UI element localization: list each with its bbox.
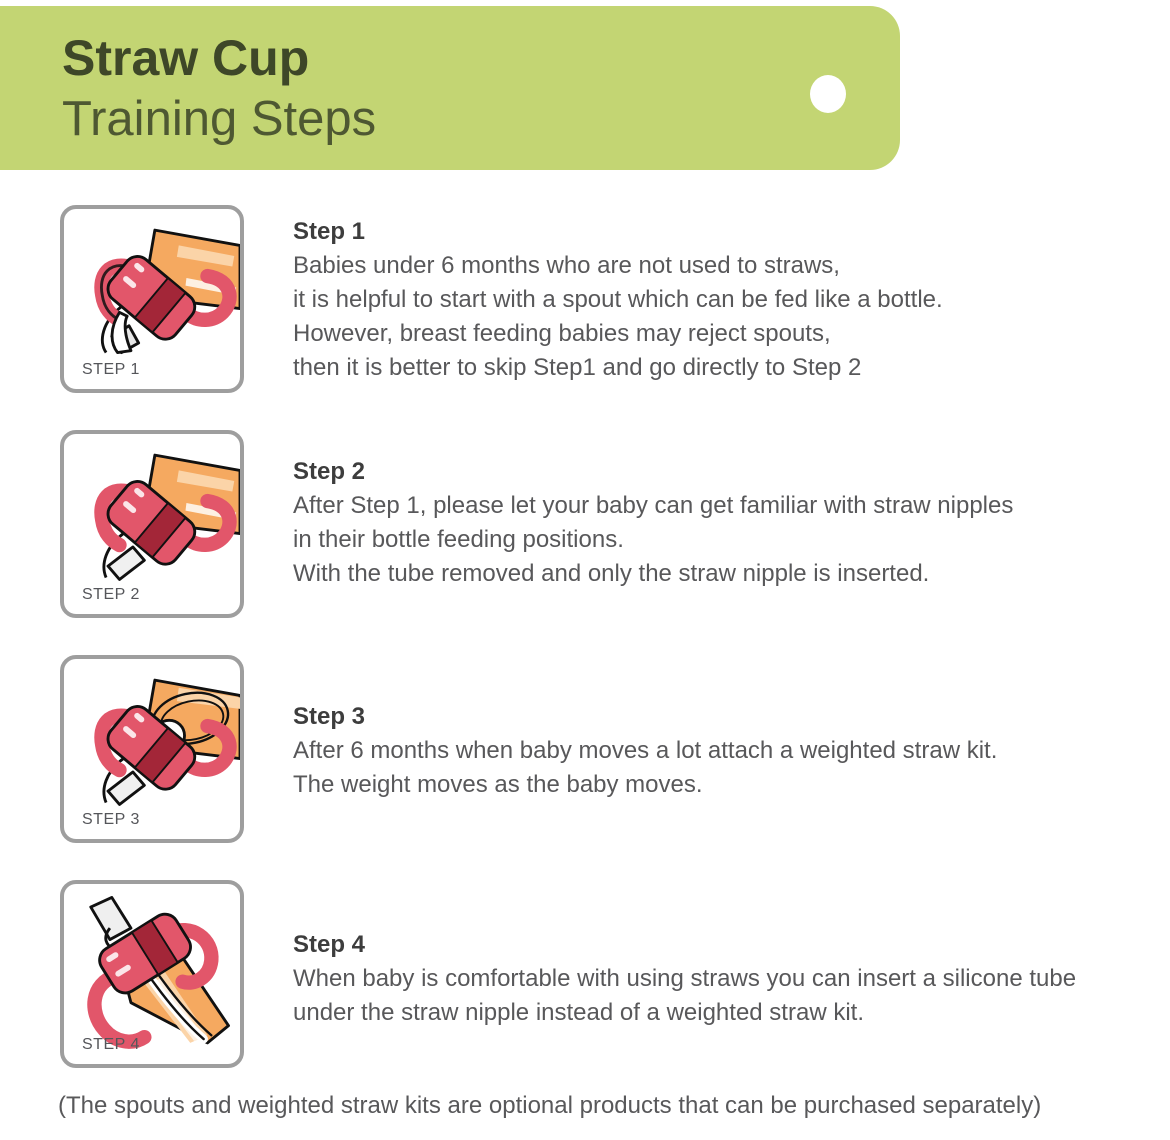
- list-item: STEP 3 Step 3 After 6 months when baby m…: [0, 655, 1170, 880]
- step-body-line: under the straw nipple instead of a weig…: [293, 996, 1163, 1030]
- header-banner: Straw Cup Training Steps: [0, 6, 900, 170]
- step-heading: Step 3: [293, 700, 1163, 734]
- steps-list: STEP 1 Step 1 Babies under 6 months who …: [0, 205, 1170, 1105]
- list-item: STEP 1 Step 1 Babies under 6 months who …: [0, 205, 1170, 430]
- step-box-label: STEP 4: [82, 1036, 140, 1054]
- step-body-line: The weight moves as the baby moves.: [293, 768, 1163, 802]
- step-body-line: After Step 1, please let your baby can g…: [293, 489, 1163, 523]
- step-heading: Step 1: [293, 215, 1163, 249]
- step-illustration-box: STEP 1: [60, 205, 244, 393]
- step-illustration-box: STEP 2: [60, 430, 244, 618]
- step-body-line: When baby is comfortable with using stra…: [293, 962, 1163, 996]
- step-illustration-box: STEP 4: [60, 880, 244, 1068]
- step-body-line: Babies under 6 months who are not used t…: [293, 249, 1163, 283]
- step-body-line: then it is better to skip Step1 and go d…: [293, 351, 1163, 385]
- step-heading: Step 2: [293, 455, 1163, 489]
- step-text-block: Step 4 When baby is comfortable with usi…: [293, 928, 1163, 1030]
- step-text-block: Step 1 Babies under 6 months who are not…: [293, 215, 1163, 385]
- step-box-label: STEP 3: [82, 811, 140, 829]
- step-body-line: in their bottle feeding positions.: [293, 523, 1163, 557]
- page-title: Straw Cup: [62, 32, 309, 85]
- footer-note: (The spouts and weighted straw kits are …: [58, 1092, 1041, 1120]
- step-illustration-box: STEP 3: [60, 655, 244, 843]
- step-body-line: With the tube removed and only the straw…: [293, 557, 1163, 591]
- step-body-line: However, breast feeding babies may rejec…: [293, 317, 1163, 351]
- page-subtitle: Training Steps: [62, 94, 376, 145]
- step-box-label: STEP 2: [82, 586, 140, 604]
- step-body-line: it is helpful to start with a spout whic…: [293, 283, 1163, 317]
- step-text-block: Step 3 After 6 months when baby moves a …: [293, 700, 1163, 802]
- step-text-block: Step 2 After Step 1, please let your bab…: [293, 455, 1163, 591]
- punch-hole-icon: [810, 75, 846, 113]
- list-item: STEP 4 Step 4 When baby is comfortable w…: [0, 880, 1170, 1105]
- list-item: STEP 2 Step 2 After Step 1, please let y…: [0, 430, 1170, 655]
- step-body-line: After 6 months when baby moves a lot att…: [293, 734, 1163, 768]
- step-heading: Step 4: [293, 928, 1163, 962]
- step-box-label: STEP 1: [82, 361, 140, 379]
